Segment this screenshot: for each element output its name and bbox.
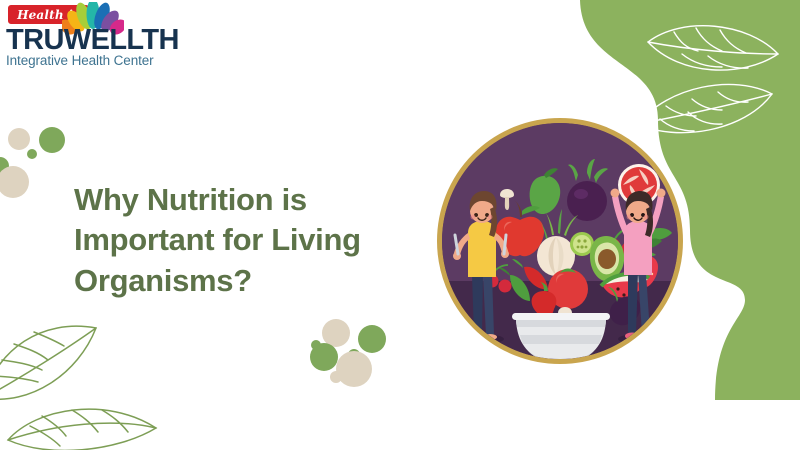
decor-dot	[358, 325, 386, 353]
leaf-outline-pair-green	[0, 300, 180, 450]
leaf-outline-pair-white	[630, 20, 790, 140]
brand-tagline: Integrative Health Center	[6, 54, 186, 68]
nutrition-people-bowl-illustration	[437, 118, 683, 364]
decor-dot	[336, 351, 372, 387]
brand-logo[interactable]: Health is TRUWELLTH Integrative Health C…	[0, 2, 185, 77]
decor-dot	[0, 166, 29, 198]
decor-dot	[39, 127, 65, 153]
banner-canvas: Health is TRUWELLTH Integrative Health C…	[0, 0, 800, 450]
decor-dot	[310, 343, 338, 371]
decor-dot	[8, 128, 30, 150]
brand-wordmark: TRUWELLTH	[6, 26, 181, 55]
page-title: Why Nutrition is Important for Living Or…	[74, 180, 424, 301]
decorative-dots-bottom	[310, 325, 410, 400]
decor-dot	[27, 149, 37, 159]
